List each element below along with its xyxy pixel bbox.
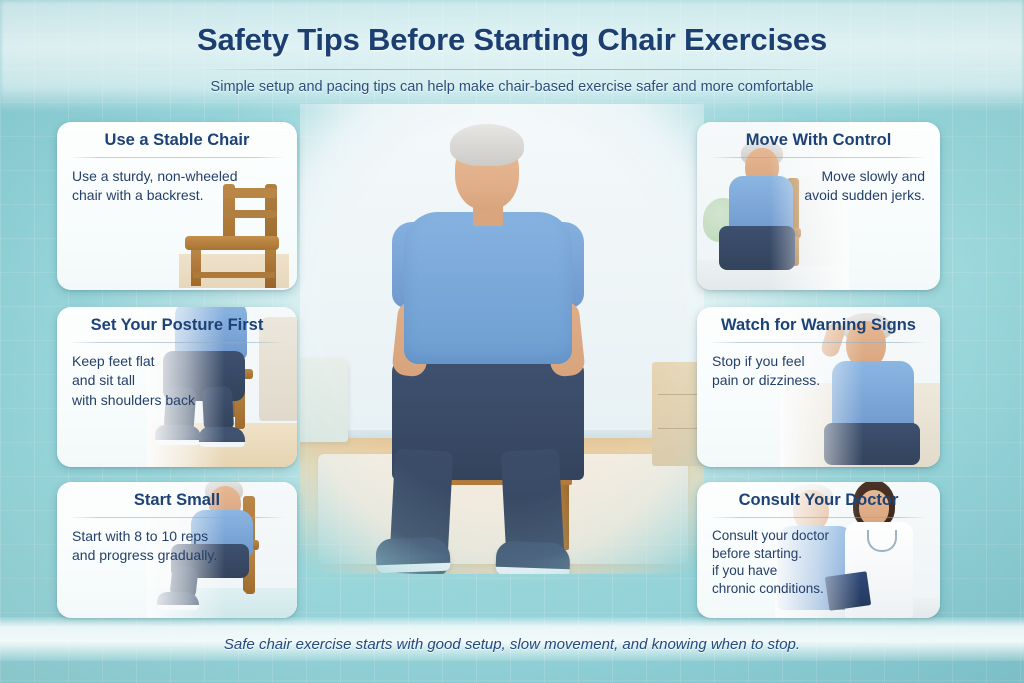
tip-card-set-your-posture-first[interactable]: Set Your Posture First Keep feet flat an… bbox=[57, 307, 297, 467]
card-body-line: Start with 8 to 10 reps bbox=[72, 527, 282, 546]
card-body-line: Stop if you feel bbox=[712, 352, 925, 371]
card-body: Stop if you feel pain or dizziness. bbox=[697, 343, 940, 391]
card-body: Consult your doctor before starting. if … bbox=[697, 518, 940, 597]
tip-card-consult-your-doctor[interactable]: Consult Your Doctor Consult your doctor … bbox=[697, 482, 940, 618]
card-body: Use a sturdy, non-wheeled chair with a b… bbox=[57, 158, 297, 206]
tip-card-use-a-stable-chair[interactable]: Use a Stable Chair Use a sturdy, non-whe… bbox=[57, 122, 297, 290]
card-body-line: Consult your doctor bbox=[712, 527, 925, 545]
card-title: Use a Stable Chair bbox=[57, 122, 297, 157]
card-title: Watch for Warning Signs bbox=[697, 307, 940, 342]
footer-text: Safe chair exercise starts with good set… bbox=[0, 636, 1024, 653]
title-divider bbox=[194, 69, 830, 70]
card-body-line: with shoulders back bbox=[72, 391, 282, 410]
card-body-line: and sit tall bbox=[72, 371, 282, 390]
card-body-line: pain or dizziness. bbox=[712, 371, 925, 390]
tip-card-move-with-control[interactable]: Move With Control Move slowly and avoid … bbox=[697, 122, 940, 290]
card-body-line: before starting. bbox=[712, 545, 925, 563]
card-body-line: and progress gradually. bbox=[72, 546, 282, 565]
card-title: Start Small bbox=[57, 482, 297, 517]
card-body-line: avoid sudden jerks. bbox=[712, 186, 925, 205]
header: Safety Tips Before Starting Chair Exerci… bbox=[0, 0, 1024, 108]
person-hair bbox=[450, 124, 524, 166]
card-body-line: Keep feet flat bbox=[72, 352, 282, 371]
person-shoe-right bbox=[495, 541, 570, 574]
card-body: Start with 8 to 10 reps and progress gra… bbox=[57, 518, 297, 566]
card-title: Move With Control bbox=[697, 122, 940, 157]
person-shoe-left bbox=[375, 537, 450, 574]
card-body-line: chronic conditions. bbox=[712, 580, 925, 598]
card-body-line: if you have bbox=[712, 562, 925, 580]
center-hero-image bbox=[300, 104, 704, 574]
card-body-line: Use a sturdy, non-wheeled bbox=[72, 167, 282, 186]
card-body: Move slowly and avoid sudden jerks. bbox=[697, 158, 940, 206]
card-title: Set Your Posture First bbox=[57, 307, 297, 342]
sofa-prop bbox=[300, 358, 348, 442]
page-subtitle: Simple setup and pacing tips can help ma… bbox=[0, 79, 1024, 95]
card-body-line: chair with a backrest. bbox=[72, 186, 282, 205]
infographic-poster: Safety Tips Before Starting Chair Exerci… bbox=[0, 0, 1024, 683]
card-body: Keep feet flat and sit tall with shoulde… bbox=[57, 343, 297, 410]
card-title: Consult Your Doctor bbox=[697, 482, 940, 517]
person-shirt bbox=[404, 212, 572, 364]
tip-card-start-small[interactable]: Start Small Start with 8 to 10 reps and … bbox=[57, 482, 297, 618]
card-body-line: Move slowly and bbox=[712, 167, 925, 186]
page-title: Safety Tips Before Starting Chair Exerci… bbox=[0, 0, 1024, 58]
tip-card-watch-for-warning-signs[interactable]: Watch for Warning Signs Stop if you feel… bbox=[697, 307, 940, 467]
